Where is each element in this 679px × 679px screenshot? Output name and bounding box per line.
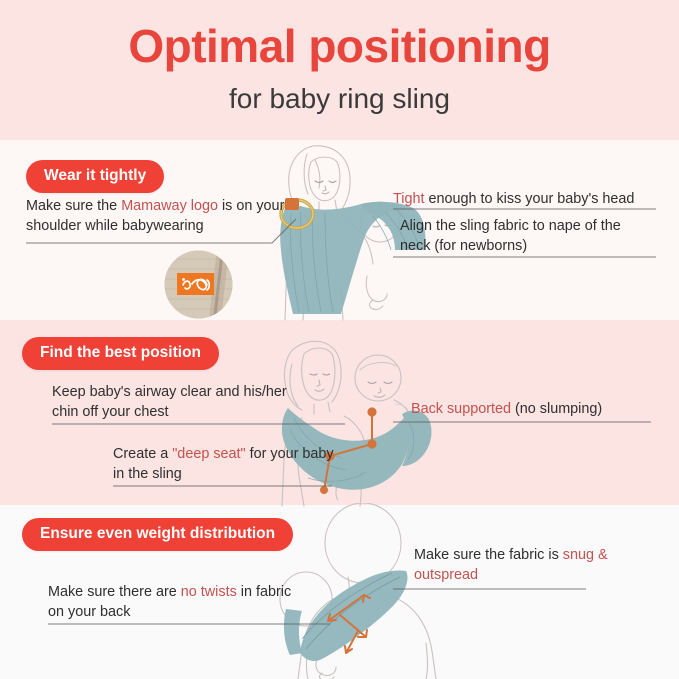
callout-text-pre: Align the sling fabric to nape of the ne…	[400, 218, 621, 254]
badge-ensure-even-weight-distribution[interactable]: Ensure even weight distribution	[22, 518, 293, 551]
snug-outspread-callout: Make sure the fabric is snug & outspread	[414, 545, 644, 586]
mamaway-logo-callout: Make sure the Mamaway logo is on your sh…	[26, 196, 316, 237]
deep-seat-callout: Create a "deep seat" for your baby in th…	[113, 444, 343, 485]
tight-enough-callout: Tight enough to kiss your baby's head	[393, 189, 663, 209]
callout-text-pre: Make sure there are	[48, 584, 181, 600]
airway-clear-callout: Keep baby's airway clear and his/her chi…	[52, 382, 312, 423]
no-twists-callout: Make sure there are no twists in fabric …	[48, 582, 298, 623]
infographic-poster: Optimal positioning for baby ring sling	[0, 0, 679, 679]
back-supported-callout: Back supported (no slumping)	[411, 399, 661, 419]
callout-text-highlight: "deep seat"	[172, 446, 245, 462]
callout-text-highlight: Back supported	[411, 401, 511, 417]
callout-text-pre: Create a	[113, 446, 172, 462]
back-view-sling-spread-illustration	[268, 503, 483, 679]
callout-text-pre: Make sure the fabric is	[414, 547, 563, 563]
page-subtitle: for baby ring sling	[0, 84, 679, 115]
page-title: Optimal positioning	[0, 22, 679, 70]
badge-wear-it-tightly[interactable]: Wear it tightly	[26, 160, 164, 193]
mamaway-logo-swatch	[163, 249, 234, 320]
badge-find-the-best-position[interactable]: Find the best position	[22, 337, 219, 370]
align-nape-callout: Align the sling fabric to nape of the ne…	[400, 216, 650, 257]
callout-text-post: enough to kiss your baby's head	[424, 191, 634, 207]
callout-text-pre: Make sure the	[26, 198, 121, 214]
callout-text-pre: Keep baby's airway clear and his/her chi…	[52, 384, 287, 420]
callout-text-highlight: Mamaway logo	[121, 198, 218, 214]
callout-text-highlight: no twists	[181, 584, 237, 600]
callout-text-post: (no slumping)	[511, 401, 602, 417]
callout-text-highlight: Tight	[393, 191, 424, 207]
